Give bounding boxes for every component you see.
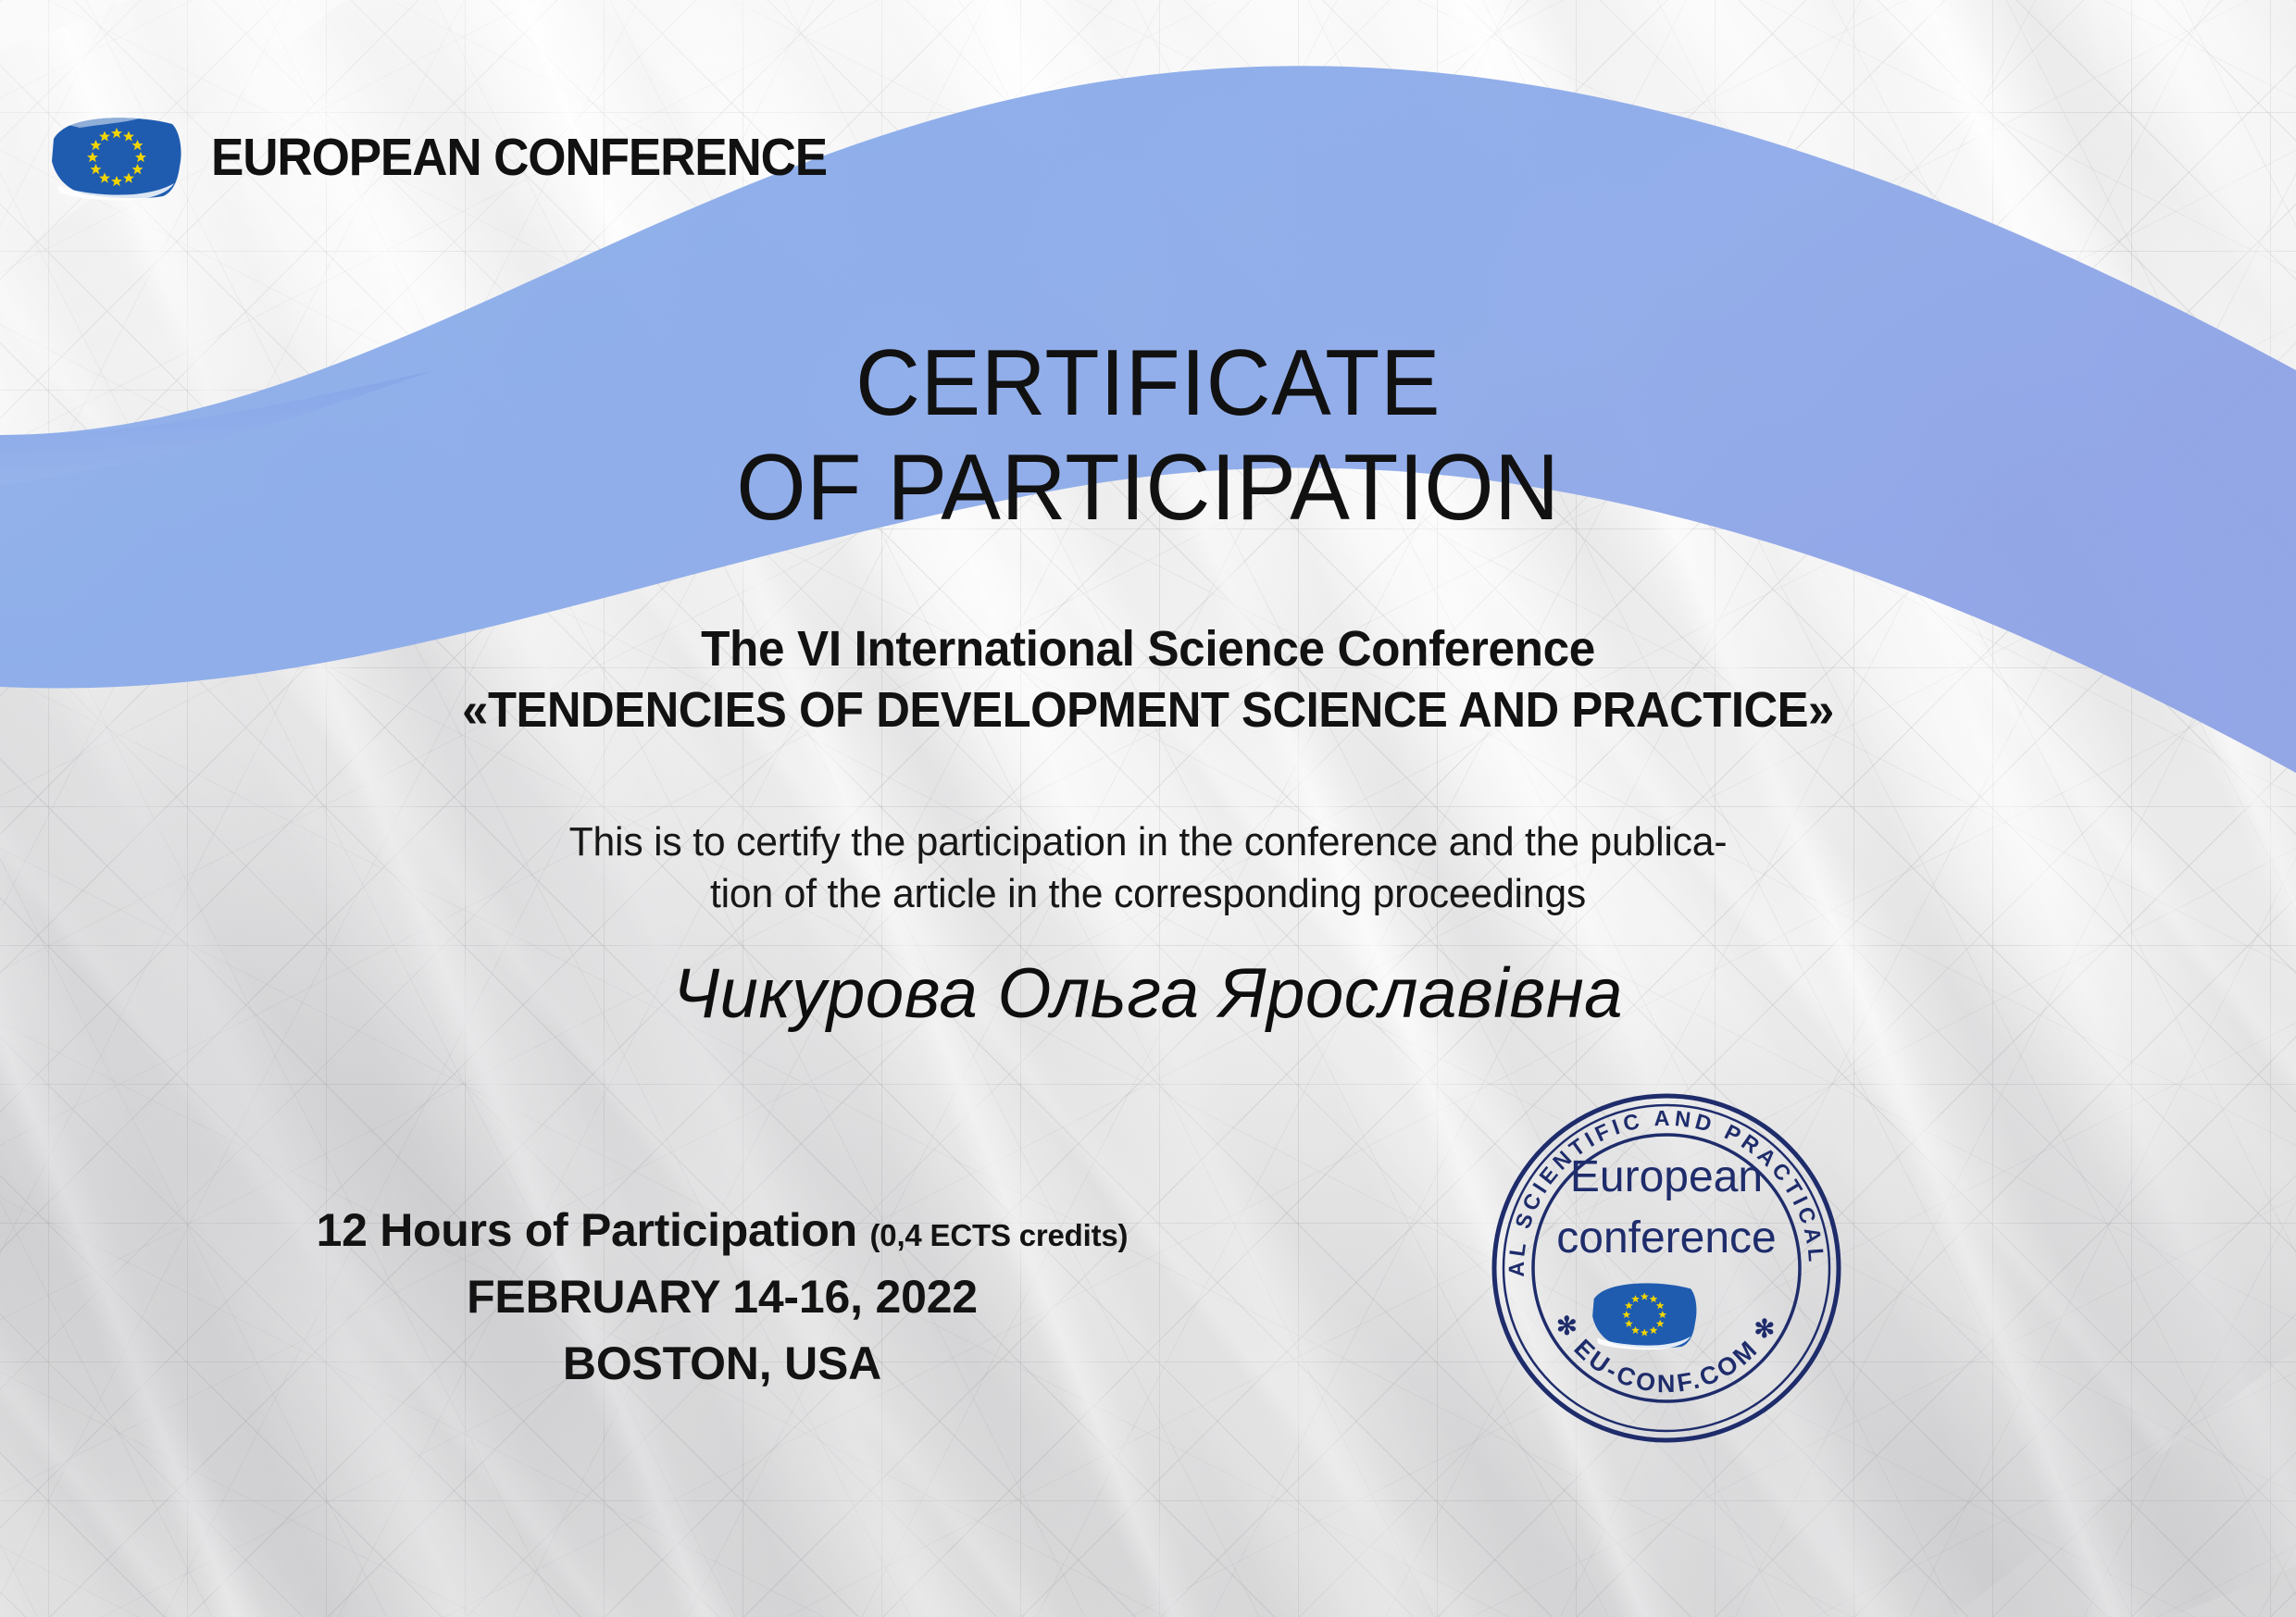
conference-name-line-2: «TENDENCIES OF DEVELOPMENT SCIENCE AND P…	[69, 681, 2227, 739]
seal-eu-flag-brush-icon	[1592, 1283, 1696, 1350]
certification-statement: This is to certify the participation in …	[34, 816, 2262, 921]
title-line-2: OF PARTICIPATION	[46, 436, 2251, 541]
official-seal: INTERNATIONAL SCIENTIFIC AND PRACTICAL C…	[1486, 1088, 1847, 1449]
title-line-1: CERTIFICATE	[855, 331, 1441, 435]
certification-line-2: tion of the article in the corresponding…	[34, 868, 2262, 920]
eu-flag-brush-icon	[48, 113, 185, 202]
hours-row: 12 Hours of Participation (0,4 ECTS cred…	[111, 1203, 1333, 1257]
seal-center-line-2: conference	[1556, 1213, 1777, 1263]
recipient-name: Чикурова Ольга Ярославівна	[23, 953, 2273, 1034]
brand-title: EUROPEAN CONFERENCE	[211, 127, 827, 188]
hours-label: 12 Hours of Participation	[317, 1204, 857, 1256]
conference-name-line-1: The VI International Science Conference	[57, 620, 2239, 678]
page-title: CERTIFICATE OF PARTICIPATION	[46, 331, 2251, 541]
header-logo: EUROPEAN CONFERENCE	[48, 113, 873, 202]
conference-place: BOSTON, USA	[111, 1337, 1333, 1390]
certificate-canvas: EUROPEAN CONFERENCE CERTIFICATE OF PARTI…	[0, 0, 2296, 1617]
participation-details: 12 Hours of Participation (0,4 ECTS cred…	[111, 1203, 1333, 1390]
ects-credits: (0,4 ECTS credits)	[870, 1218, 1129, 1252]
seal-center-line-1: European	[1570, 1152, 1763, 1201]
conference-date: FEBRUARY 14-16, 2022	[111, 1270, 1333, 1324]
certification-line-1: This is to certify the participation in …	[34, 816, 2262, 868]
